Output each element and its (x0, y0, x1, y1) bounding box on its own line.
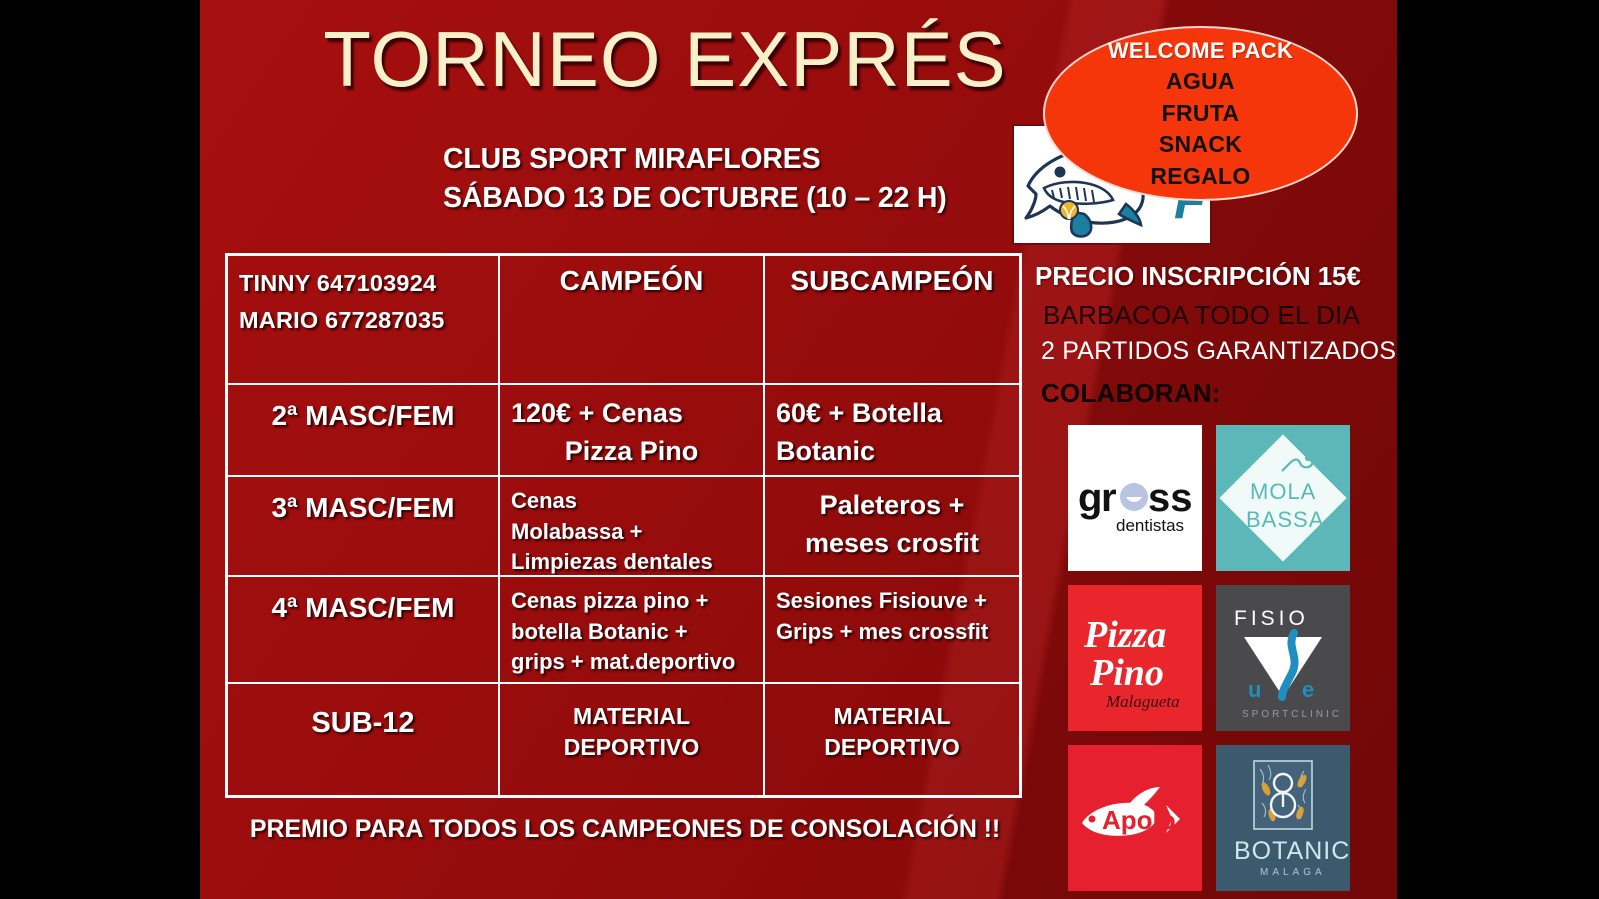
row-runner-up-prize: MATERIAL DEPORTIVO (765, 684, 1019, 795)
registration-price: PRECIO INSCRIPCIÓN 15€ (1035, 261, 1380, 292)
table-row: 2ª MASC/FEM 120€ + Cenas Pizza Pino 60€ … (228, 385, 1019, 477)
row-champion-prize: 120€ + Cenas Pizza Pino (500, 385, 765, 475)
svg-text:Apolo: Apolo (1102, 805, 1176, 835)
svg-text:BOTANIC: BOTANIC (1234, 837, 1350, 865)
venue-line: CLUB SPORT MIRAFLORES (443, 140, 1063, 179)
welcome-pack-item-fruta: FRUTA (1162, 98, 1240, 130)
sponsor-logo-fisio-uve: FISIO u e SPORTCLINIC FISIO uve SPORTCLI… (1216, 585, 1350, 731)
guaranteed-matches: 2 PARTIDOS GARANTIZADOS (1041, 337, 1391, 366)
welcome-pack-item-regalo: REGALO (1150, 161, 1250, 193)
svg-text:BASSA: BASSA (1246, 507, 1324, 532)
row-category: 4ª MASC/FEM (228, 577, 500, 682)
svg-text:dentistas: dentistas (1116, 516, 1184, 535)
row-runner-up-prize: Paleteros + meses crosfit (765, 477, 1019, 575)
svg-text:ss: ss (1148, 476, 1193, 520)
table-row: SUB-12 MATERIAL DEPORTIVO MATERIAL DEPOR… (228, 684, 1019, 795)
sponsor-logo-mola-bassa: MOLA BASSA MOLA BASSA (1216, 425, 1350, 571)
row-champion-prize: Cenas pizza pino + botella Botanic + gri… (500, 577, 765, 682)
svg-text:Malagueta: Malagueta (1105, 692, 1180, 711)
column-header-champion: CAMPEÓN (500, 256, 765, 383)
page-title: TORNEO EXPRÉS (200, 14, 1130, 105)
row-category: 2ª MASC/FEM (228, 385, 500, 475)
row-runner-up-prize: Sesiones Fisiouve + Grips + mes crossfit (765, 577, 1019, 682)
svg-text:MOLA: MOLA (1250, 479, 1316, 504)
svg-text:MALAGA: MALAGA (1260, 867, 1326, 878)
club-logo-initials: MF (1014, 243, 1015, 244)
table-row: 3ª MASC/FEM Cenas Molabassa + Limpiezas … (228, 477, 1019, 577)
sponsors-heading: COLABORAN: (1041, 378, 1221, 409)
row-category: SUB-12 (228, 684, 500, 795)
presentation-slide: TORNEO EXPRÉS CLUB SPORT MIRAFLORES SÁBA… (200, 0, 1397, 899)
svg-text:u: u (1248, 677, 1261, 702)
contact-cell: TINNY 647103924 MARIO 677287035 (228, 256, 500, 383)
screenshot-canvas: TORNEO EXPRÉS CLUB SPORT MIRAFLORES SÁBA… (0, 0, 1599, 899)
sponsor-logo-botanic-malaga: BOTANIC MALAGA BOTANIC MALAGA (1216, 745, 1350, 891)
column-header-runner-up: SUBCAMPEÓN (765, 256, 1019, 383)
sponsor-logo-pizza-pino: Pizza Pino Malagueta Pizza Pino Malaguet… (1068, 585, 1202, 731)
date-line: SÁBADO 13 DE OCTUBRE (10 – 22 H) (443, 179, 1063, 218)
sponsor-logo-grid: g r ss dentistas gross dentistas (1068, 425, 1356, 872)
svg-text:r: r (1101, 476, 1117, 520)
row-category: 3ª MASC/FEM (228, 477, 500, 575)
row-champion-prize: Cenas Molabassa + Limpiezas dentales (500, 477, 765, 575)
barbecue-note: BARBACOA TODO EL DIA (1043, 300, 1388, 331)
sponsor-logo-gross-dentistas: g r ss dentistas gross dentistas (1068, 425, 1202, 571)
welcome-pack-item-agua: AGUA (1166, 66, 1235, 98)
svg-text:SPORTCLINIC: SPORTCLINIC (1242, 709, 1342, 720)
table-header-row: TINNY 647103924 MARIO 677287035 CAMPEÓN … (228, 256, 1019, 385)
table-row: 4ª MASC/FEM Cenas pizza pino + botella B… (228, 577, 1019, 684)
row-champion-prize: MATERIAL DEPORTIVO (500, 684, 765, 795)
svg-text:e: e (1302, 677, 1314, 702)
svg-text:FISIO: FISIO (1234, 607, 1309, 630)
contact-mario: MARIO 677287035 (239, 302, 487, 339)
svg-text:Pizza: Pizza (1083, 614, 1166, 656)
row-runner-up-prize: 60€ + Botella Botanic (765, 385, 1019, 475)
svg-text:Pino: Pino (1089, 652, 1164, 694)
welcome-pack-badge: WELCOME PACK AGUA FRUTA SNACK REGALO (1043, 26, 1358, 201)
contact-tinny: TINNY 647103924 (239, 265, 487, 302)
svg-text:g: g (1078, 476, 1102, 520)
welcome-pack-title: WELCOME PACK (1108, 36, 1293, 66)
sponsor-logo-apolo: Apolo Apolo (1068, 745, 1202, 891)
welcome-pack-item-snack: SNACK (1159, 129, 1242, 161)
consolation-prize-note: PREMIO PARA TODOS LOS CAMPEONES DE CONSO… (225, 815, 1025, 844)
event-subtitle: CLUB SPORT MIRAFLORES SÁBADO 13 DE OCTUB… (443, 140, 1063, 218)
prize-table: TINNY 647103924 MARIO 677287035 CAMPEÓN … (225, 253, 1022, 798)
